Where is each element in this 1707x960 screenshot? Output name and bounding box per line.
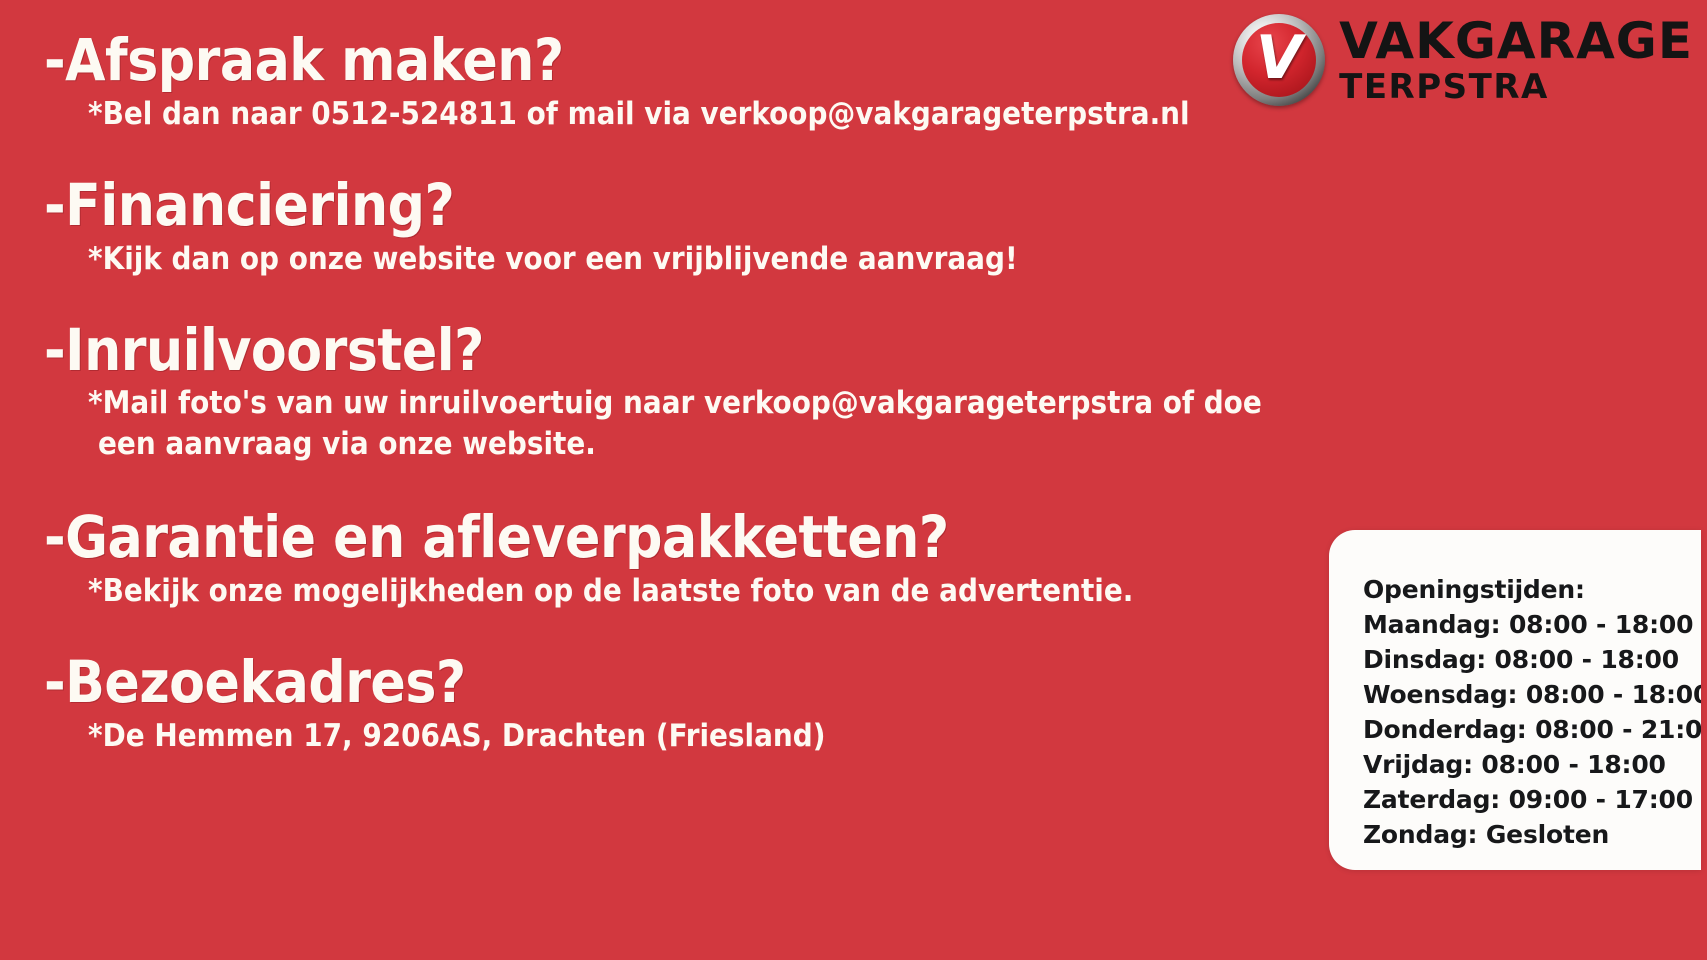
section-heading: -Garantie en afleverpakketten? — [44, 507, 1334, 568]
opening-hours-card: Openingstijden: Maandag: 08:00 - 18:00 D… — [1329, 530, 1701, 870]
opening-hours-row-dinsdag: Dinsdag: 08:00 - 18:00 — [1363, 642, 1701, 677]
info-sections: -Afspraak maken? *Bel dan naar 0512-5248… — [44, 30, 1334, 757]
opening-hours-row-vrijdag: Vrijdag: 08:00 - 18:00 — [1363, 747, 1701, 782]
logo-wordmark: VAKGARAGE TERPSTRA — [1339, 16, 1693, 104]
section-subtext: *Kijk dan op onze website voor een vrijb… — [88, 239, 1334, 280]
opening-hours-row-woensdag: Woensdag: 08:00 - 18:00 — [1363, 677, 1701, 712]
section-subtext: *Mail foto's van uw inruilvoertuig naar … — [88, 383, 1334, 424]
opening-hours-row-zaterdag: Zaterdag: 09:00 - 17:00 — [1363, 782, 1701, 817]
section-heading: -Financiering? — [44, 175, 1334, 236]
opening-hours-title: Openingstijden: — [1363, 572, 1701, 607]
section-heading: -Bezoekadres? — [44, 652, 1334, 713]
opening-hours-row-zondag: Zondag: Gesloten — [1363, 817, 1701, 852]
section-inruilvoorstel: -Inruilvoorstel? *Mail foto's van uw inr… — [44, 320, 1334, 466]
logo-primary-text: VAKGARAGE — [1339, 16, 1693, 66]
opening-hours-list: Openingstijden: Maandag: 08:00 - 18:00 D… — [1363, 572, 1701, 852]
opening-hours-row-maandag: Maandag: 08:00 - 18:00 — [1363, 607, 1701, 642]
section-subtext: *De Hemmen 17, 9206AS, Drachten (Friesla… — [88, 716, 1334, 757]
section-bezoekadres: -Bezoekadres? *De Hemmen 17, 9206AS, Dra… — [44, 652, 1334, 757]
section-subtext: *Bel dan naar 0512-524811 of mail via ve… — [88, 94, 1334, 135]
logo-secondary-text: TERPSTRA — [1339, 70, 1693, 104]
section-afspraak: -Afspraak maken? *Bel dan naar 0512-5248… — [44, 30, 1334, 135]
section-subtext: *Bekijk onze mogelijkheden op de laatste… — [88, 571, 1334, 612]
promotional-banner: V VAKGARAGE TERPSTRA -Afspraak maken? *B… — [0, 0, 1707, 960]
section-financiering: -Financiering? *Kijk dan op onze website… — [44, 175, 1334, 280]
section-subtext-continuation: een aanvraag via onze website. — [98, 424, 1334, 465]
section-garantie: -Garantie en afleverpakketten? *Bekijk o… — [44, 507, 1334, 612]
section-heading: -Afspraak maken? — [44, 30, 1334, 91]
opening-hours-row-donderdag: Donderdag: 08:00 - 21:00 — [1363, 712, 1701, 747]
logo-v-letter: V — [1256, 28, 1302, 88]
section-heading: -Inruilvoorstel? — [44, 320, 1334, 381]
